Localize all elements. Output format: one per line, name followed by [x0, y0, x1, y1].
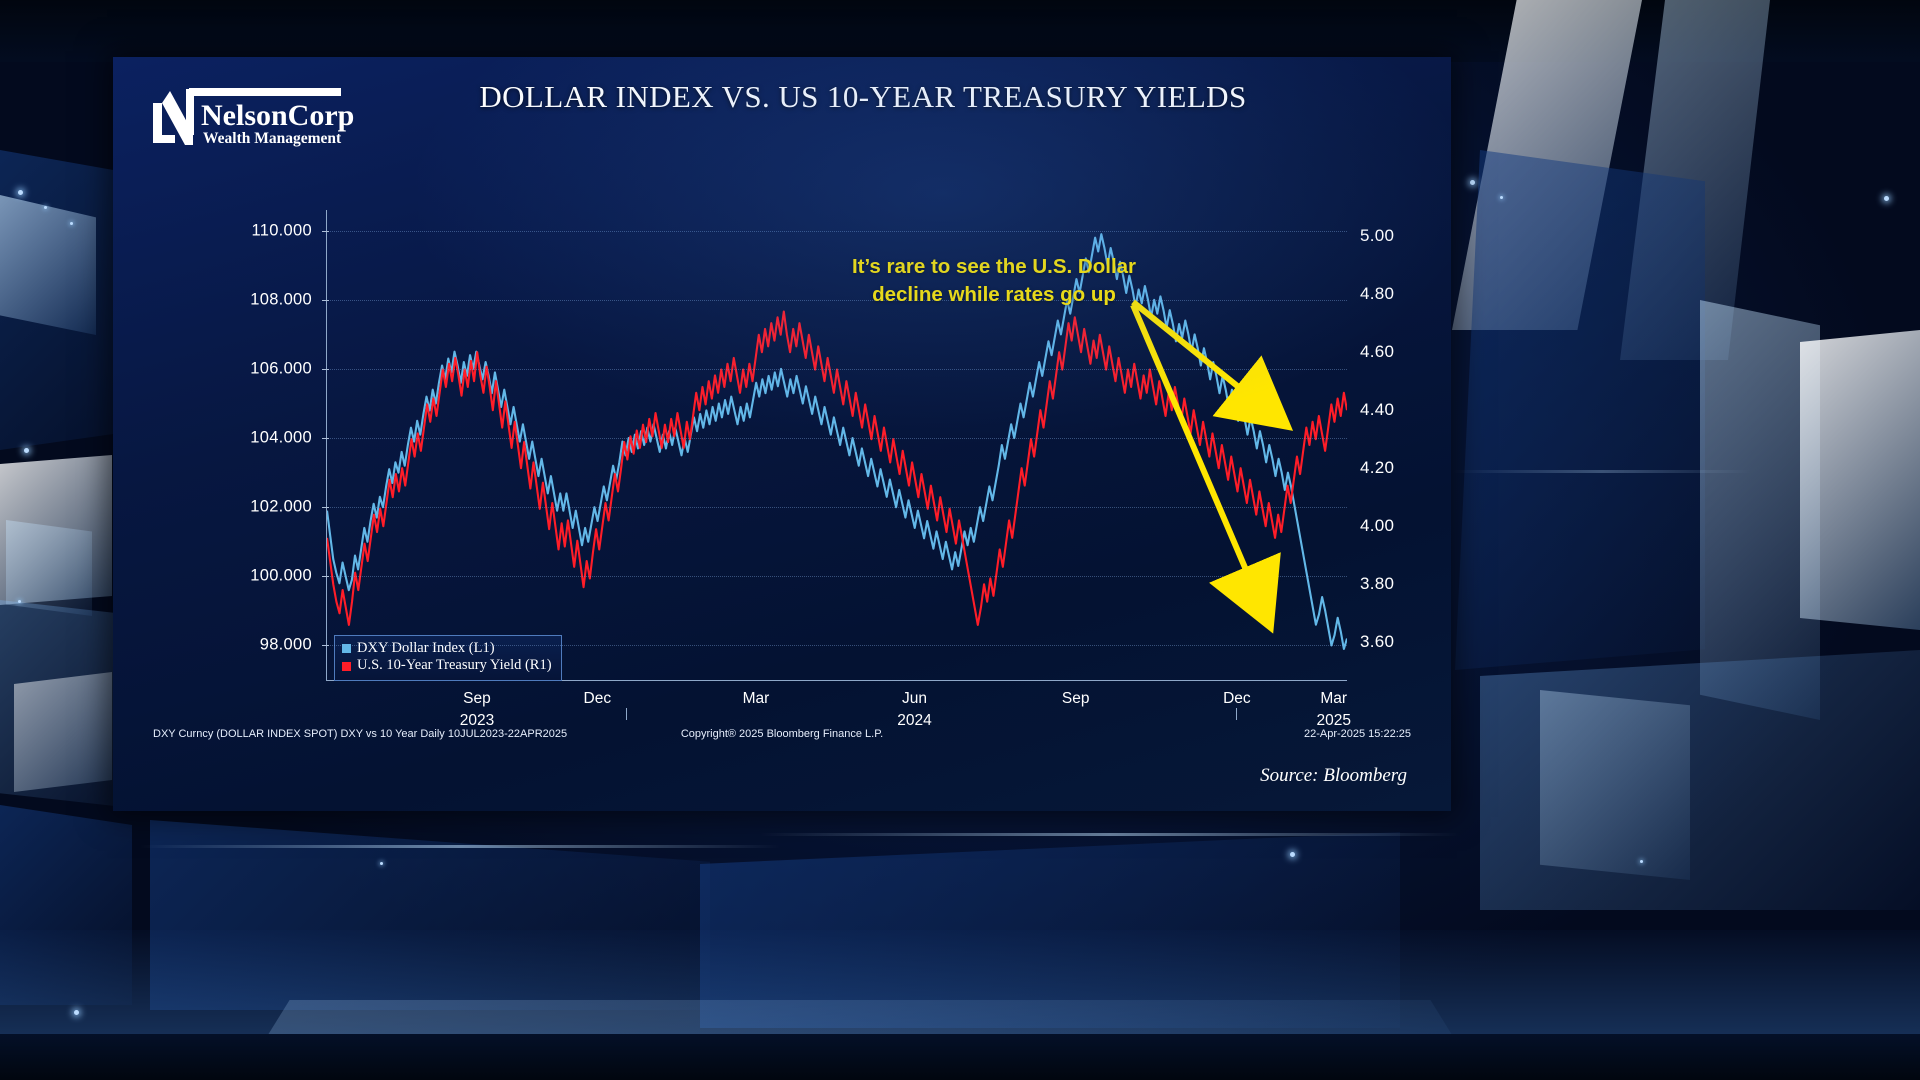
x-axis-tick: Dec [584, 690, 612, 708]
left-axis-tick: 104.000 [250, 429, 312, 448]
annotation-line-2: decline while rates go up [829, 281, 1159, 309]
x-axis-tick: Sep [463, 690, 491, 708]
legend-item-yield[interactable]: U.S. 10-Year Treasury Yield (R1) [342, 657, 552, 675]
backdrop-stripe-2 [760, 833, 1460, 836]
backdrop-panel-right-5 [1800, 330, 1920, 630]
presentation-slide: NelsonCorp Wealth Management DOLLAR INDE… [113, 57, 1451, 811]
left-axis-tick-mark [322, 645, 329, 646]
backdrop-light-10 [1290, 852, 1295, 857]
backdrop-light-7 [1500, 196, 1503, 199]
chart-gridline [327, 645, 1347, 646]
chart-gridline [327, 231, 1347, 232]
backdrop-panel-left-2 [0, 195, 96, 335]
legend-label-yield: U.S. 10-Year Treasury Yield (R1) [357, 657, 552, 675]
backdrop-stripe-3 [1452, 470, 1752, 473]
page-title: DOLLAR INDEX VS. US 10-YEAR TREASURY YIE… [313, 79, 1413, 115]
backdrop-light-6 [1470, 180, 1475, 185]
source-note: Source: Bloomberg [1260, 765, 1407, 787]
x-axis-tick: Jun [902, 690, 927, 708]
backdrop-light-5 [18, 600, 21, 603]
left-axis-tick-mark [322, 300, 329, 301]
series-line [327, 312, 1347, 625]
screen: NelsonCorp Wealth Management DOLLAR INDE… [0, 0, 1920, 1080]
backdrop-light-2 [44, 206, 47, 209]
footer-right: 22-Apr-2025 15:22:25 [1304, 728, 1411, 740]
right-axis-tick: 4.00 [1360, 516, 1394, 536]
right-axis-tick: 4.20 [1360, 458, 1394, 478]
left-axis-tick-mark [322, 369, 329, 370]
background-bottom-band [0, 1034, 1920, 1080]
backdrop-light-11 [380, 862, 383, 865]
backdrop-light-9 [1640, 860, 1643, 863]
chart-gridline [327, 369, 1347, 370]
left-axis-tick: 100.000 [250, 567, 312, 586]
annotation-line-1: It’s rare to see the U.S. Dollar [829, 253, 1159, 281]
chart-annotation: It’s rare to see the U.S. Dollar decline… [829, 253, 1159, 310]
right-axis-tick: 4.80 [1360, 284, 1394, 304]
backdrop-light-8 [1884, 196, 1889, 201]
chart-gridline [327, 507, 1347, 508]
x-axis-tick: Mar [743, 690, 770, 708]
right-axis-tick: 3.80 [1360, 574, 1394, 594]
right-axis-tick: 5.00 [1360, 226, 1394, 246]
x-axis-tick: Mar [1320, 690, 1347, 708]
legend-label-dxy: DXY Dollar Index (L1) [357, 640, 495, 658]
left-axis-tick-mark [322, 507, 329, 508]
left-axis-tick: 110.000 [251, 221, 312, 240]
backdrop-light-12 [74, 1010, 79, 1015]
backdrop-panel-right-3 [1455, 150, 1705, 670]
backdrop-light-1 [18, 190, 23, 195]
x-axis-year-label: 2024 [897, 712, 931, 730]
legend-swatch-yield [342, 662, 351, 671]
bloomberg-chart: DXY Dollar Index (L1) U.S. 10-Year Treas… [213, 185, 1423, 715]
x-axis-tick: Dec [1223, 690, 1251, 708]
chart-gridline [327, 576, 1347, 577]
left-axis-tick: 106.000 [250, 359, 312, 378]
left-axis-tick: 98.000 [260, 636, 312, 655]
legend-item-dxy[interactable]: DXY Dollar Index (L1) [342, 640, 552, 658]
chart-legend[interactable]: DXY Dollar Index (L1) U.S. 10-Year Treas… [334, 635, 562, 681]
chart-gridline [327, 438, 1347, 439]
left-axis-tick-mark [322, 438, 329, 439]
backdrop-panel-left-6 [14, 672, 112, 792]
right-axis-tick: 3.60 [1360, 632, 1394, 652]
backdrop-light-4 [24, 448, 29, 453]
left-axis-tick: 102.000 [250, 498, 312, 517]
right-axis-tick: 4.60 [1360, 342, 1394, 362]
right-axis-tick: 4.40 [1360, 400, 1394, 420]
backdrop-light-3 [70, 222, 73, 225]
footer-center: Copyright® 2025 Bloomberg Finance L.P. [681, 728, 883, 740]
left-axis-tick-mark [322, 231, 329, 232]
x-axis-separator [626, 708, 627, 720]
nelsoncorp-logo-tagline: Wealth Management [203, 130, 342, 147]
footer-left: DXY Curncy (DOLLAR INDEX SPOT) DXY vs 10… [153, 728, 567, 740]
backdrop-stripe-1 [140, 845, 780, 848]
left-axis-tick-mark [322, 576, 329, 577]
left-axis-tick: 108.000 [250, 290, 312, 309]
backdrop-panel-right-7 [1540, 690, 1690, 880]
x-axis-separator [1236, 708, 1237, 720]
x-axis-tick: Sep [1062, 690, 1090, 708]
